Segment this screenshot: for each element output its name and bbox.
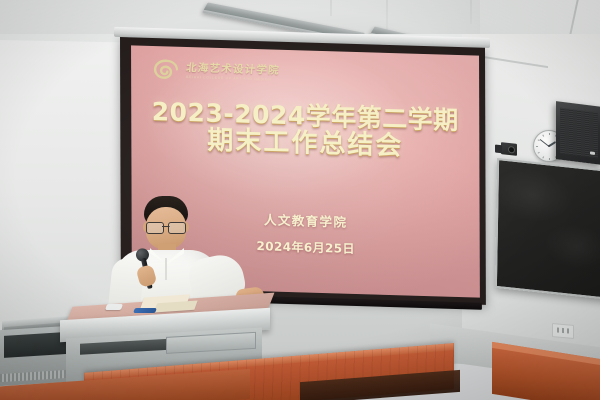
wall-camera-icon (501, 142, 517, 156)
pen-case (133, 308, 157, 313)
power-outlet (552, 323, 574, 339)
speaker-label (590, 151, 595, 155)
lamp-wire (330, 0, 332, 16)
slide-brand: 北海艺术设计学院 BEIHAI COLLEGE OF ART AND DESIG… (153, 58, 280, 86)
remote-control (105, 304, 123, 310)
slide-title-block: 2023-2024学年第二学期 期末工作总结会 (131, 97, 479, 162)
wall-speaker (556, 101, 600, 165)
brand-name-en: BEIHAI COLLEGE OF ART AND DESIGN (186, 76, 280, 82)
clock-center-pin (548, 145, 550, 147)
lecture-hall-photo: 北海艺术设计学院 BEIHAI COLLEGE OF ART AND DESIG… (0, 0, 600, 400)
presenter-placket (165, 258, 167, 280)
lamp-wire (386, 0, 388, 30)
lectern-drawer (166, 332, 256, 354)
blackboard (495, 158, 600, 300)
brand-text: 北海艺术设计学院 BEIHAI COLLEGE OF ART AND DESIG… (186, 63, 280, 82)
chalk-smudge (497, 160, 600, 298)
eyeglasses-icon (145, 222, 187, 232)
swirl-spiral-logo-icon (153, 58, 179, 83)
brand-name-cn: 北海艺术设计学院 (186, 63, 281, 76)
lamp-wire (470, 0, 472, 24)
